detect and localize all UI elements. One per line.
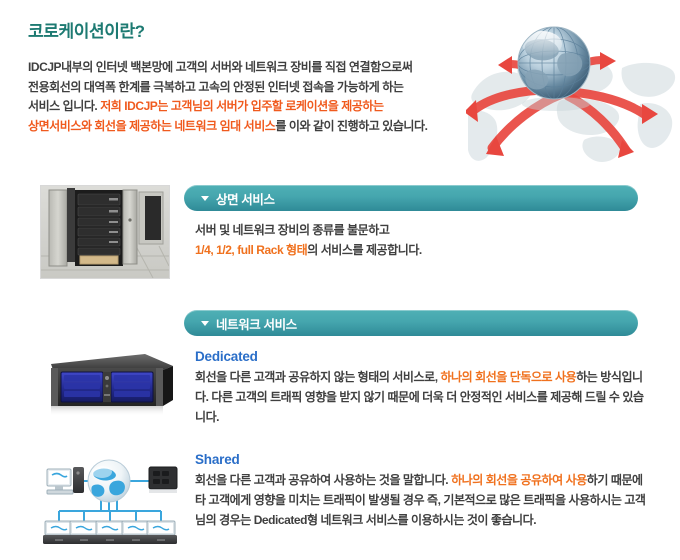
- intro-line-3-highlight: 저희 IDCJP는 고객님의 서버가 입주할 로케이션을 제공하는: [100, 99, 383, 113]
- desktop-computer: [47, 467, 84, 494]
- intro-line-1: IDCJP내부의 인터넷 백본망에 고객의 서버와 네트워크 장비를 직접 연결…: [28, 60, 412, 74]
- shared-text-part1: 회선을 다른 고객과 공유하여 사용하는 것을 말합니다.: [195, 473, 451, 487]
- section-header-colocation[interactable]: 상면 서비스: [184, 185, 638, 211]
- section-colocation: 상면 서비스 서버 및 네트워크 장비의 종류를 불문하고 1/4, 1/2, …: [0, 183, 680, 293]
- dedicated-body-text: 회선을 다른 고객과 공유하지 않는 형태의 서비스로, 하나의 회선을 단독으…: [195, 367, 650, 427]
- intro-line-2: 전용회선의 대역폭 한계를 극복하고 고속의 안정된 인터넷 접속을 가능하게 …: [28, 80, 403, 94]
- intro-line-4-plain: 를 이와 같이 진행하고 있습니다.: [275, 119, 427, 133]
- colocation-text-line1: 서버 및 네트워크 장비의 종류를 불문하고: [195, 223, 389, 237]
- chevron-down-icon: [201, 196, 209, 201]
- dedicated-text-part1: 회선을 다른 고객과 공유하지 않는 형태의 서비스로,: [195, 370, 440, 384]
- subsection-title-dedicated: Dedicated: [195, 349, 258, 364]
- section-network: 네트워크 서비스: [0, 305, 680, 555]
- rackmount-server-photo: [36, 343, 178, 427]
- dedicated-text-highlight: 하나의 회선을 단독으로 사용: [440, 370, 576, 384]
- section-header-network[interactable]: 네트워크 서비스: [184, 310, 638, 336]
- network-diagram-photo: [36, 448, 184, 550]
- globe-icon: [88, 460, 130, 502]
- server-box: [149, 467, 177, 493]
- shared-body-text: 회선을 다른 고객과 공유하여 사용하는 것을 말합니다. 하나의 회선을 공유…: [195, 470, 650, 530]
- intro-paragraph: IDCJP내부의 인터넷 백본망에 고객의 서버와 네트워크 장비를 직접 연결…: [28, 58, 478, 136]
- colocation-body-text: 서버 및 네트워크 장비의 종류를 불문하고 1/4, 1/2, full Ra…: [195, 220, 650, 260]
- intro-line-4-highlight: 상면서비스와 회선을 제공하는 네트워크 임대 서비스: [28, 119, 275, 133]
- server-rack-photo: [40, 185, 170, 279]
- subsection-title-shared: Shared: [195, 452, 240, 467]
- section-header-label: 네트워크 서비스: [216, 314, 297, 333]
- laptop-row: [43, 521, 177, 544]
- page-title: 코로케이션이란?: [28, 17, 145, 42]
- globe-network-graphic: [466, 8, 678, 168]
- shared-text-highlight: 하나의 회선을 공유하여 사용: [451, 473, 587, 487]
- colocation-text-line2: 의 서비스를 제공합니다.: [307, 243, 422, 257]
- intro-line-3-plain: 서비스 입니다.: [28, 99, 100, 113]
- section-header-label: 상면 서비스: [216, 189, 275, 208]
- colocation-text-highlight: 1/4, 1/2, full Rack 형태: [195, 243, 307, 257]
- chevron-down-icon: [201, 321, 209, 326]
